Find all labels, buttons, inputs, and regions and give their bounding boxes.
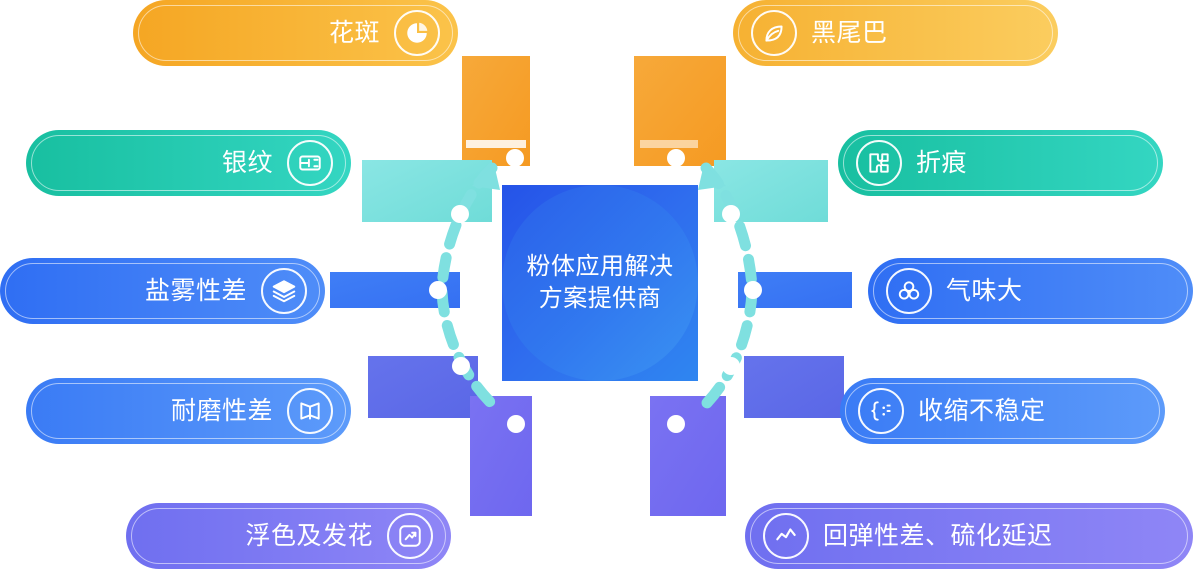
node-label: 折痕 [916,151,967,176]
node-label: 花斑 [329,21,380,46]
node-label: 银纹 [222,151,273,176]
node-nai-mo-xing-cha[interactable]: 耐磨性差 [26,378,351,444]
bubbles-icon [886,268,932,314]
node-hui-tan-xing-cha[interactable]: 回弹性差、硫化延迟 [745,503,1193,569]
block-bottom-left [470,396,532,516]
block-top-left [462,56,530,166]
pie-chart-icon [394,10,440,56]
node-hei-wei-ba[interactable]: 黑尾巴 [733,0,1058,66]
puzzle-icon [856,140,902,186]
ticket-icon [287,140,333,186]
chart-line-icon [763,513,809,559]
code-braces-icon [858,388,904,434]
node-hua-ban[interactable]: 花斑 [133,0,458,66]
node-yin-wen[interactable]: 银纹 [26,130,351,196]
book-icon [287,388,333,434]
center-node[interactable]: 粉体应用解决 方案提供商 [502,185,698,381]
leaf-icon [751,10,797,56]
node-qi-wei-da[interactable]: 气味大 [868,258,1193,324]
node-label: 收缩不稳定 [918,399,1046,424]
center-label-line1: 粉体应用解决 [527,251,674,283]
node-label: 耐磨性差 [171,399,273,424]
center-label-line2: 方案提供商 [539,283,662,315]
block-lower-right [744,356,844,418]
diagram-canvas: 粉体应用解决 方案提供商 花斑银纹盐雾性差耐磨性差浮色及发花黑尾巴折痕气味大收缩… [0,0,1193,577]
node-label: 气味大 [946,279,1023,304]
block-bottom-right [650,396,726,516]
node-label: 黑尾巴 [811,21,888,46]
node-label: 浮色及发花 [245,524,373,549]
layers-icon [261,268,307,314]
center-label: 粉体应用解决 方案提供商 [502,185,698,381]
trend-up-icon [387,513,433,559]
node-shou-suo-bu-wen-ding[interactable]: 收缩不稳定 [840,378,1165,444]
node-label: 盐雾性差 [145,279,247,304]
block-top-right [634,56,726,166]
node-label: 回弹性差、硫化延迟 [823,524,1053,549]
node-yan-wu-xing-cha[interactable]: 盐雾性差 [0,258,325,324]
node-fu-se-ji-fa-hua[interactable]: 浮色及发花 [126,503,451,569]
node-zhe-hen[interactable]: 折痕 [838,130,1163,196]
